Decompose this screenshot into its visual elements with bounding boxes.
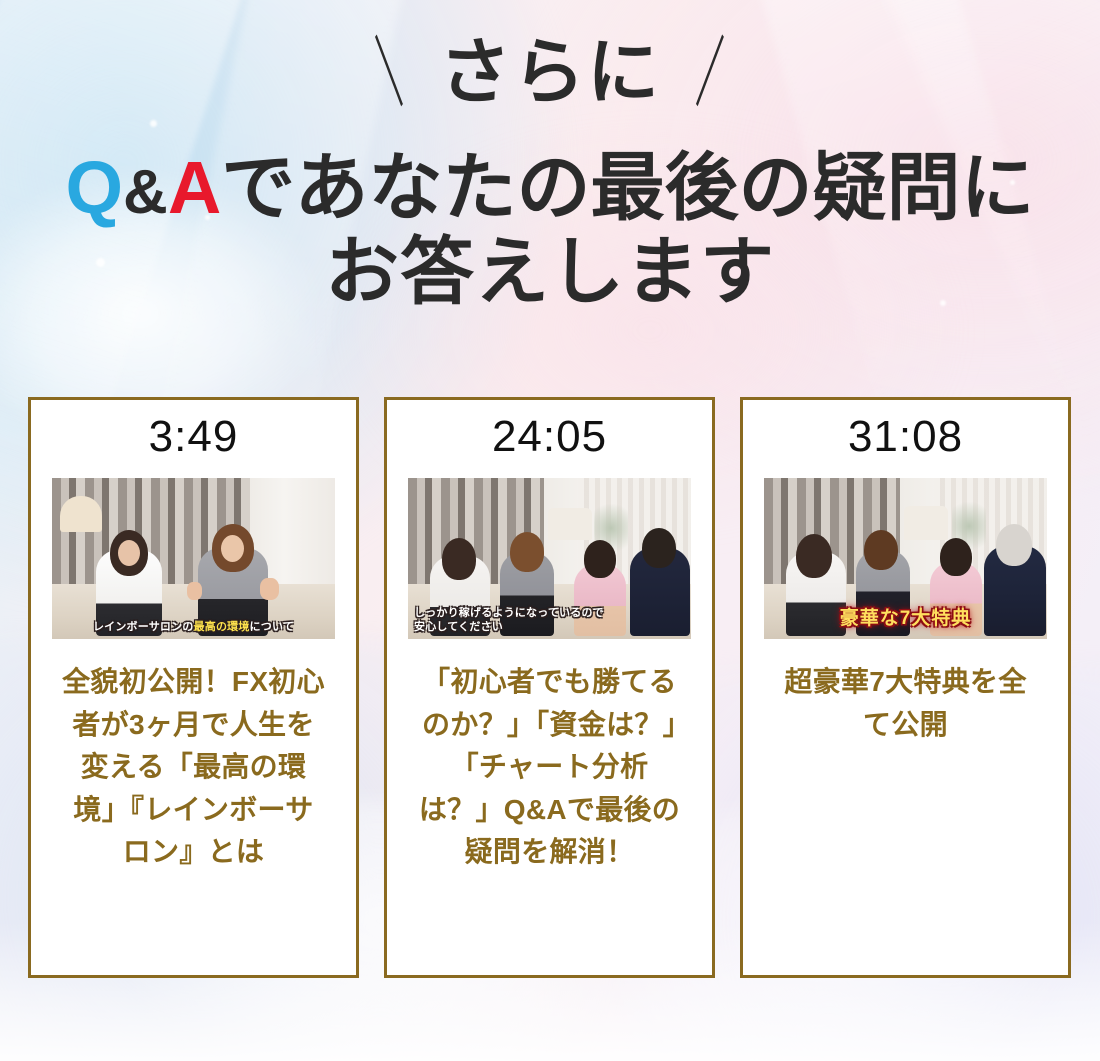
caption-suffix: について bbox=[250, 621, 294, 633]
person-head bbox=[796, 534, 832, 578]
timestamp-label: 3:49 bbox=[149, 414, 239, 460]
video-thumbnail[interactable]: 豪華な7大特典 bbox=[764, 478, 1047, 639]
headline-section: ＼ さらに ／ Q&Aであなたの最後の疑問に お答えします bbox=[0, 34, 1100, 313]
ampersand: & bbox=[123, 158, 168, 227]
caption-line-2: 安心してください bbox=[414, 621, 503, 633]
caption-line-1: しっかり稼げるようになっているので bbox=[414, 607, 604, 619]
a-letter: A bbox=[168, 146, 221, 229]
person-head bbox=[996, 524, 1032, 566]
card-description: 「初心者でも勝てるのか？」「資金は？」「チャート分析は？」Q&Aで最後の疑問を解… bbox=[416, 661, 684, 874]
thumbnail-scene bbox=[52, 478, 335, 639]
video-chapter-card[interactable]: 31:08 豪華な7大特典 bbox=[740, 397, 1071, 978]
video-chapter-cards: 3:49 レインボーサロンの最高の環境について bbox=[28, 397, 1072, 978]
card-description: 全貌初公開！FX初心者が3ヶ月で人生を変える「最高の環境」『レインボーサロン』と… bbox=[60, 661, 328, 874]
video-thumbnail[interactable]: レインボーサロンの最高の環境について bbox=[52, 478, 335, 639]
thumbnail-caption: 豪華な7大特典 bbox=[764, 606, 1047, 632]
person-hand bbox=[187, 582, 202, 600]
caption-prefix: レインボーサロンの bbox=[93, 621, 194, 633]
thumbnail-caption: レインボーサロンの最高の環境について bbox=[52, 620, 335, 635]
person-head bbox=[584, 540, 616, 578]
caption-gold-text: 豪華な7大特典 bbox=[840, 608, 972, 629]
person-face bbox=[221, 535, 244, 562]
main-headline-line-2: お答えします bbox=[0, 230, 1100, 314]
eyebrow-text: さらに bbox=[439, 37, 661, 109]
person-hand bbox=[260, 578, 279, 600]
person-head bbox=[642, 528, 676, 568]
person-head bbox=[510, 532, 544, 572]
lamp-icon bbox=[548, 508, 592, 540]
video-chapter-card[interactable]: 3:49 レインボーサロンの最高の環境について bbox=[28, 397, 359, 978]
thumbnail-caption: しっかり稼げるようになっているので安心してください bbox=[408, 606, 691, 636]
eyebrow-headline: ＼ さらに ／ bbox=[349, 34, 751, 112]
person-face bbox=[118, 540, 140, 566]
video-thumbnail[interactable]: しっかり稼げるようになっているので安心してください bbox=[408, 478, 691, 639]
headline-line-1-rest: であなたの最後の疑問に bbox=[221, 146, 1034, 229]
timestamp-label: 24:05 bbox=[492, 414, 607, 460]
person-head bbox=[940, 538, 972, 576]
timestamp-label: 31:08 bbox=[848, 414, 963, 460]
q-letter: Q bbox=[65, 146, 123, 229]
lamp-icon bbox=[904, 506, 948, 540]
lamp-icon bbox=[60, 496, 102, 532]
slash-left-icon: ＼ bbox=[360, 33, 418, 113]
person-head bbox=[442, 538, 476, 580]
person-head bbox=[864, 530, 898, 570]
video-chapter-card[interactable]: 24:05 しっかり稼げる bbox=[384, 397, 715, 978]
slash-right-icon: ／ bbox=[682, 33, 740, 113]
page-content: ＼ さらに ／ Q&Aであなたの最後の疑問に お答えします 3:49 bbox=[0, 0, 1100, 1061]
card-description: 超豪華7大特典を全て公開 bbox=[772, 661, 1040, 746]
caption-highlight: 最高の環境 bbox=[194, 621, 250, 633]
main-headline-line-1: Q&Aであなたの最後の疑問に bbox=[0, 146, 1100, 230]
